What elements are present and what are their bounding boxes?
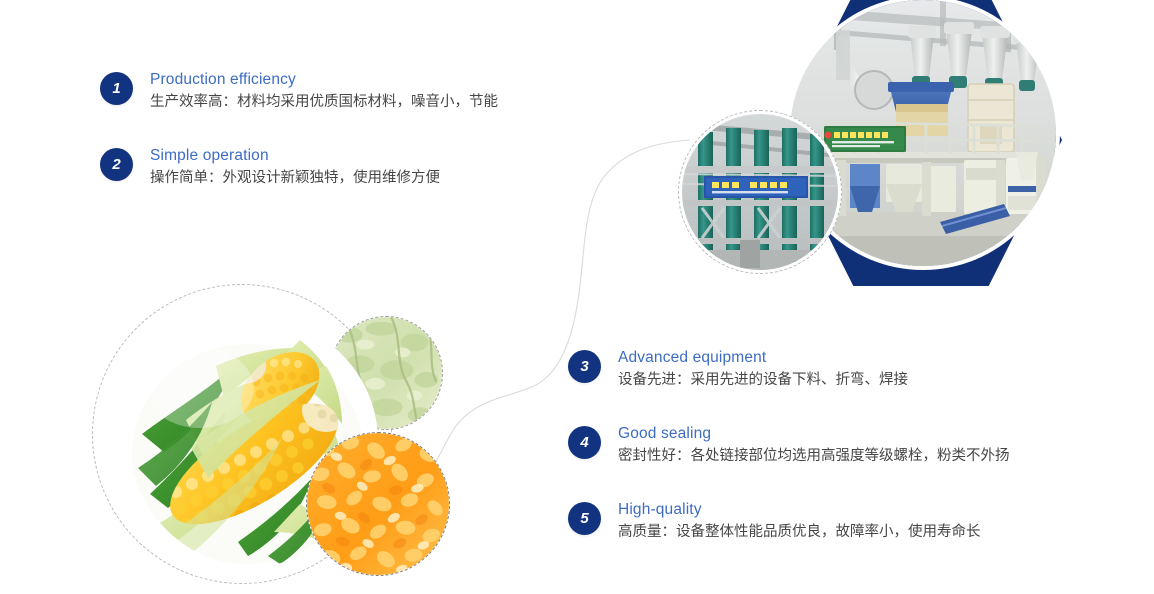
feature-text-1: Production efficiency 生产效率高：材料均采用优质国标材料，… <box>150 70 498 113</box>
feature-title-1: Production efficiency <box>150 70 498 90</box>
feature-text-2: Simple operation 操作简单：外观设计新颖独特，使用维修方便 <box>150 146 440 189</box>
corn-media-cluster <box>92 284 492 594</box>
badge-number-2: 2 <box>100 148 133 181</box>
feature-title-2: Simple operation <box>150 146 440 166</box>
feature-text-5: High-quality 高质量：设备整体性能品质优良，故障率小，使用寿命长 <box>618 500 981 543</box>
feature-item-2: 2 Simple operation 操作简单：外观设计新颖独特，使用维修方便 <box>100 146 498 189</box>
feature-title-5: High-quality <box>618 500 981 520</box>
badge-number-1: 1 <box>100 72 133 105</box>
feature-desc-4: 密封性好：各处链接部位均选用高强度等级螺栓，粉类不外扬 <box>618 445 1010 467</box>
feature-item-1: 1 Production efficiency 生产效率高：材料均采用优质国标材… <box>100 70 498 113</box>
feature-list-top-left: 1 Production efficiency 生产效率高：材料均采用优质国标材… <box>100 70 498 189</box>
feature-text-3: Advanced equipment 设备先进：采用先进的设备下料、折弯、焊接 <box>618 348 908 391</box>
feature-desc-1: 生产效率高：材料均采用优质国标材料，噪音小，节能 <box>150 91 498 113</box>
feature-desc-2: 操作简单：外观设计新颖独特，使用维修方便 <box>150 167 440 189</box>
factory-media-cluster <box>672 0 1072 286</box>
badge-number-3: 3 <box>568 350 601 383</box>
green-mill-equipment-photo <box>678 110 842 274</box>
feature-title-3: Advanced equipment <box>618 348 908 368</box>
corn-grits-photo <box>306 432 450 576</box>
badge-number-5: 5 <box>568 502 601 535</box>
feature-desc-3: 设备先进：采用先进的设备下料、折弯、焊接 <box>618 369 908 391</box>
feature-desc-5: 高质量：设备整体性能品质优良，故障率小，使用寿命长 <box>618 521 981 543</box>
feature-title-4: Good sealing <box>618 424 1010 444</box>
feature-list-bottom-right: 3 Advanced equipment 设备先进：采用先进的设备下料、折弯、焊… <box>568 348 1010 543</box>
feature-text-4: Good sealing 密封性好：各处链接部位均选用高强度等级螺栓，粉类不外扬 <box>618 424 1010 467</box>
badge-number-4: 4 <box>568 426 601 459</box>
feature-item-4: 4 Good sealing 密封性好：各处链接部位均选用高强度等级螺栓，粉类不… <box>568 424 1010 467</box>
feature-item-3: 3 Advanced equipment 设备先进：采用先进的设备下料、折弯、焊… <box>568 348 1010 391</box>
feature-item-5: 5 High-quality 高质量：设备整体性能品质优良，故障率小，使用寿命长 <box>568 500 1010 543</box>
